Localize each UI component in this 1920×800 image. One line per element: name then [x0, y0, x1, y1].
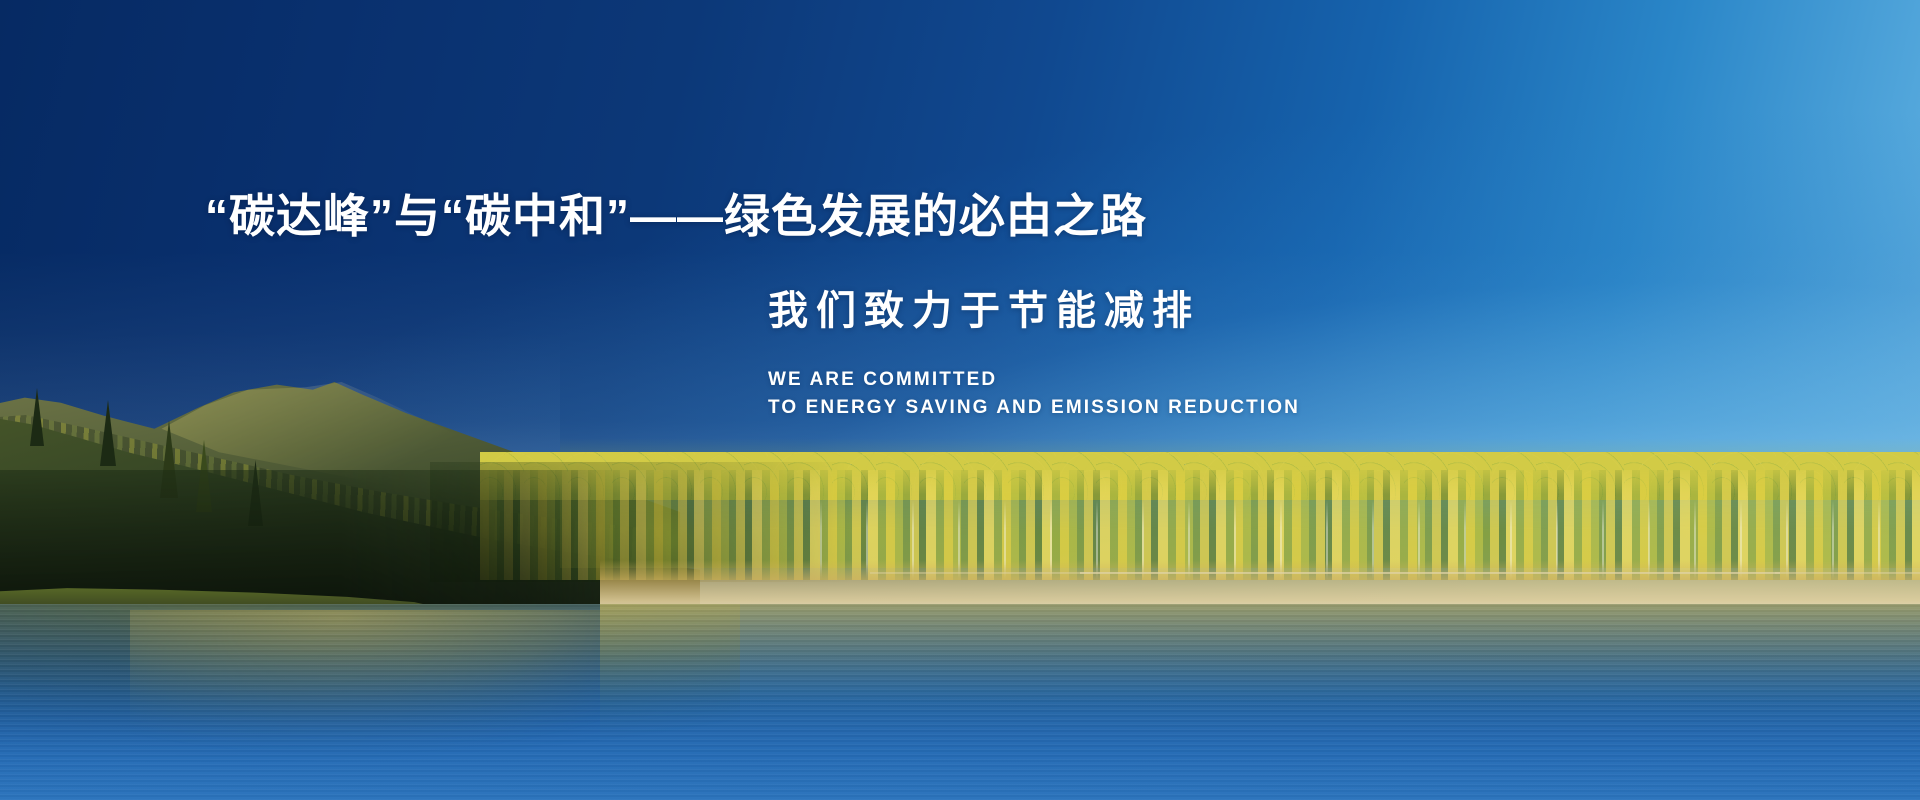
english-line-1: WE ARE COMMITTED: [768, 366, 1588, 394]
banner-subheadline: 我们致力于节能减排: [768, 278, 1588, 336]
banner-text-block: 我们致力于节能减排 WE ARE COMMITTED TO ENERGY SAV…: [768, 278, 1588, 421]
hero-banner: “碳达峰”与“碳中和”——绿色发展的必由之路 我们致力于节能减排 WE ARE …: [0, 0, 1920, 800]
water-reflection-gold: [130, 610, 600, 770]
water-reflection-forest: [600, 604, 1920, 764]
english-line-2: TO ENERGY SAVING AND EMISSION REDUCTION: [768, 394, 1588, 422]
banner-english-tagline: WE ARE COMMITTED TO ENERGY SAVING AND EM…: [768, 366, 1588, 421]
dark-forest-left: [0, 470, 620, 605]
banner-headline: “碳达峰”与“碳中和”——绿色发展的必由之路: [205, 180, 1147, 246]
